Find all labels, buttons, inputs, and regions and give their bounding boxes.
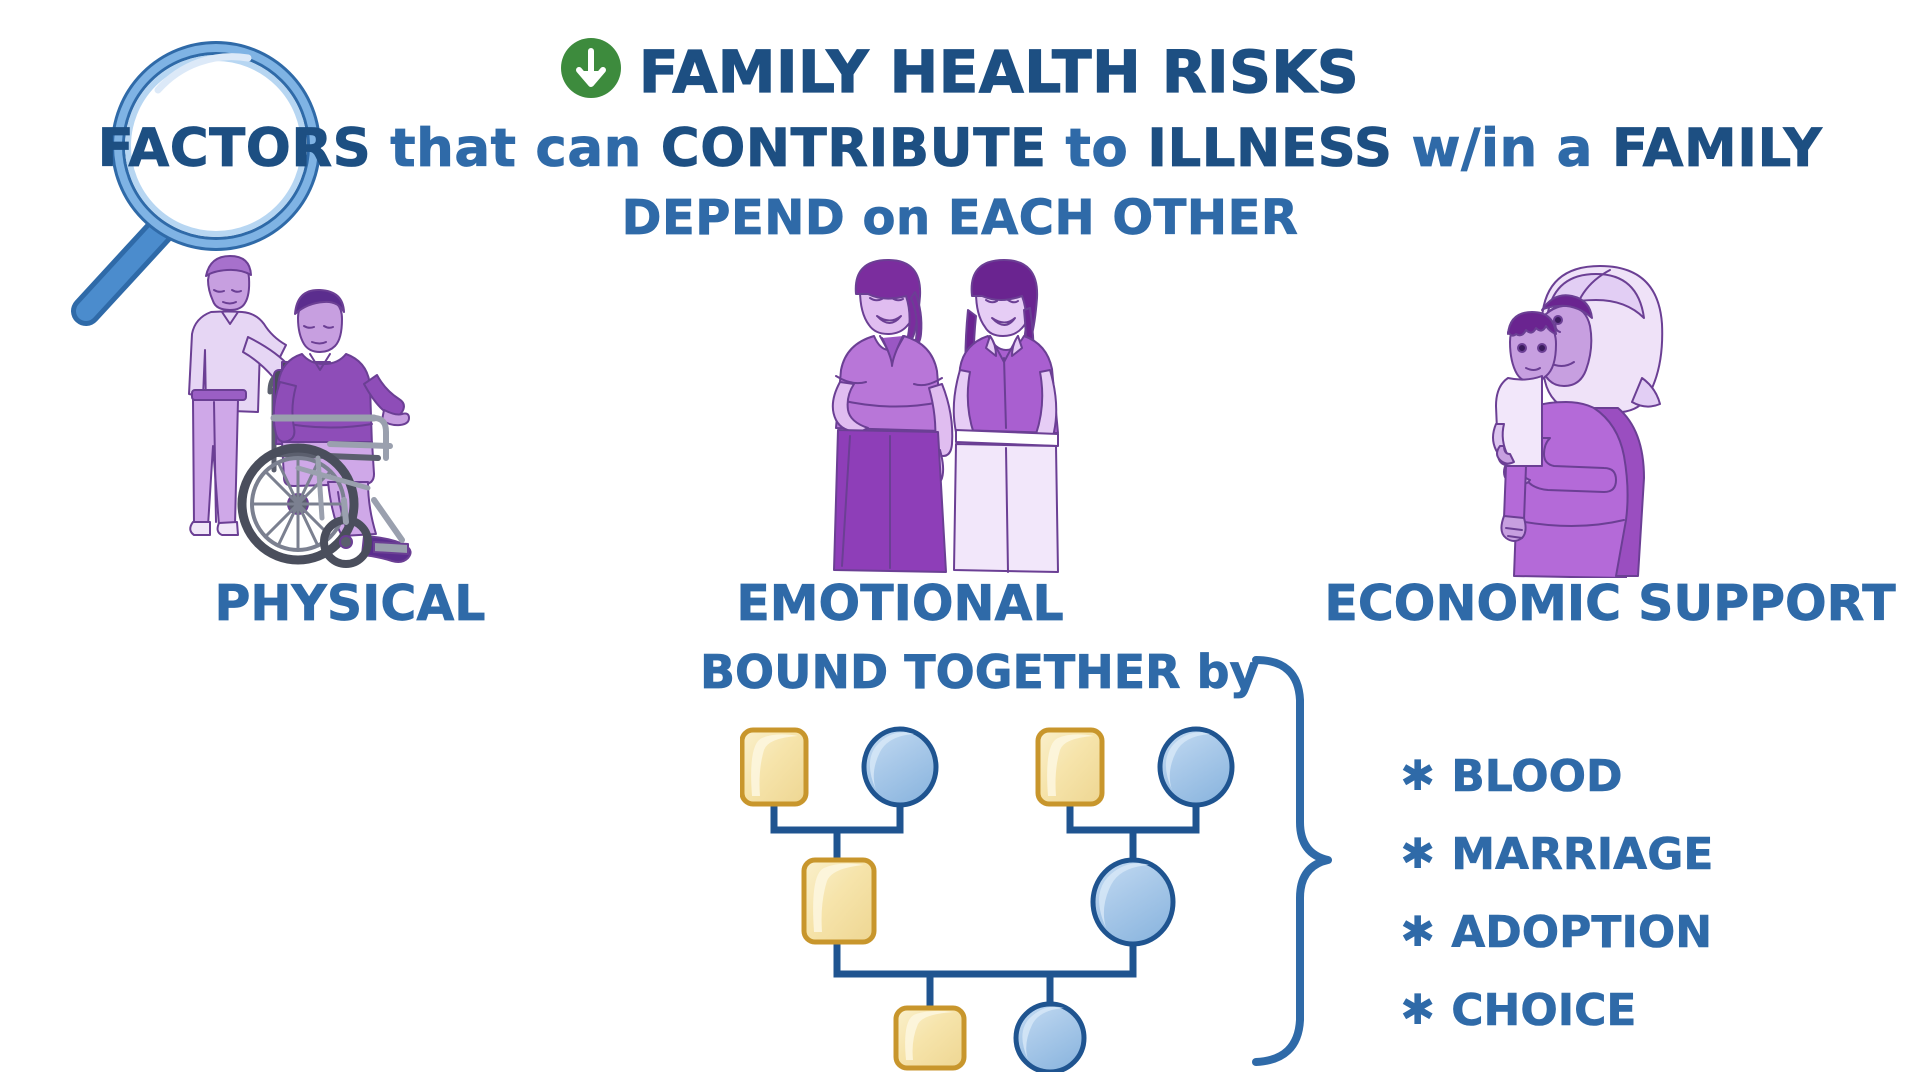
subtitle-line-2: DEPEND on EACH OTHER [0, 190, 1920, 246]
list-item-label: ADOPTION [1451, 907, 1712, 958]
list-item: ✱ ADOPTION [1400, 904, 1713, 960]
subtitle-family: FAMILY [1612, 118, 1823, 179]
page-title-text: FAMILY HEALTH RISKS [639, 38, 1359, 106]
asterisk-icon: ✱ [1400, 989, 1435, 1031]
category-label-emotional: EMOTIONAL [700, 575, 1100, 632]
subtitle-illness: ILLNESS [1147, 118, 1392, 179]
asterisk-icon: ✱ [1400, 911, 1435, 953]
genogram-circle [864, 729, 936, 805]
bound-by-list: ✱ BLOOD ✱ MARRIAGE ✱ ADOPTION ✱ CHOICE [1400, 748, 1713, 1060]
subtitle-contribute: CONTRIBUTE [661, 118, 1047, 179]
list-item-label: MARRIAGE [1451, 829, 1713, 880]
subtitle-to: to [1066, 118, 1129, 179]
list-item: ✱ BLOOD [1400, 748, 1713, 804]
list-item: ✱ MARRIAGE [1400, 826, 1713, 882]
subtitle-factors: FACTORS [98, 118, 372, 179]
asterisk-icon: ✱ [1400, 833, 1435, 875]
bound-together-label: BOUND TOGETHER by [700, 645, 1260, 699]
category-label-economic-support: ECONOMIC SUPPORT [1300, 575, 1920, 632]
list-item: ✱ CHOICE [1400, 982, 1713, 1038]
subtitle-that-can: that can [390, 118, 642, 179]
wheelchair-caregiver-illustration [178, 242, 468, 572]
right-curly-brace-icon [1248, 650, 1378, 1075]
asterisk-icon: ✱ [1400, 755, 1435, 797]
mother-holding-baby-illustration [1482, 258, 1722, 578]
category-label-physical: PHYSICAL [150, 575, 550, 632]
genogram-circle [1160, 729, 1232, 805]
list-item-label: BLOOD [1451, 751, 1622, 802]
page-title: FAMILY HEALTH RISKS [0, 34, 1920, 106]
subtitle-win-a: w/in a [1412, 118, 1593, 179]
subtitle-line-1: FACTORS that can CONTRIBUTE to ILLNESS w… [0, 118, 1920, 179]
down-arrow-icon [561, 38, 621, 98]
two-women-illustration [830, 250, 1080, 575]
list-item-label: CHOICE [1451, 985, 1636, 1036]
poster-canvas: FAMILY HEALTH RISKS FACTORS that can CON… [0, 0, 1920, 1080]
